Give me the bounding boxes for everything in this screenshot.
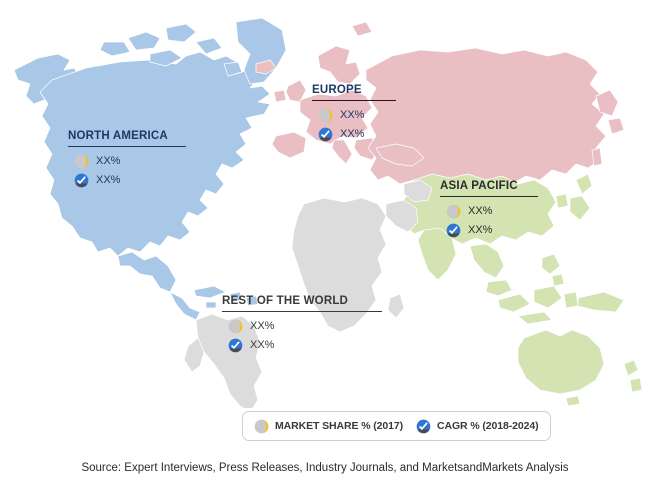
metric-row-market-share: XX% — [318, 106, 396, 125]
pie-chart-icon — [446, 204, 461, 219]
globe-growth-icon — [228, 338, 243, 353]
legend-item-cagr[interactable]: CAGR % (2018-2024) — [416, 419, 539, 434]
region-rule-europe — [312, 100, 396, 101]
legend-item-market-share[interactable]: MARKET SHARE % (2017) — [254, 419, 403, 434]
callout-europe[interactable]: EUROPE XX% XX% — [312, 84, 396, 144]
metric-row-cagr: XX% — [228, 336, 382, 355]
metric-value-cagr: XX% — [250, 339, 274, 352]
callout-rest-of-world[interactable]: REST OF THE WORLD XX% XX% — [222, 295, 382, 355]
globe-growth-icon — [416, 419, 431, 434]
metric-value-cagr: XX% — [96, 174, 120, 187]
metric-row-cagr: XX% — [446, 221, 538, 240]
metric-value-cagr: XX% — [468, 224, 492, 237]
legend-label-cagr: CAGR % (2018-2024) — [437, 420, 539, 432]
pie-chart-icon — [228, 319, 243, 334]
globe-growth-icon — [446, 223, 461, 238]
metric-value-cagr: XX% — [340, 128, 364, 141]
metric-value-market-share: XX% — [96, 155, 120, 168]
region-rule-north-america — [68, 146, 186, 147]
region-rule-asia-pacific — [440, 196, 538, 197]
metric-value-market-share: XX% — [468, 205, 492, 218]
region-title-north-america: NORTH AMERICA — [68, 130, 186, 146]
region-rule-rest-of-world — [222, 311, 382, 312]
metric-row-market-share: XX% — [446, 202, 538, 221]
regional-market-map-figure: NORTH AMERICA XX% XX% EUROPE — [0, 0, 650, 491]
region-title-rest-of-world: REST OF THE WORLD — [222, 295, 382, 311]
metric-value-market-share: XX% — [340, 109, 364, 122]
region-title-europe: EUROPE — [312, 84, 396, 100]
globe-growth-icon — [74, 173, 89, 188]
globe-growth-icon — [318, 127, 333, 142]
pie-chart-icon — [74, 154, 89, 169]
metric-value-market-share: XX% — [250, 320, 274, 333]
metric-row-cagr: XX% — [318, 125, 396, 144]
callout-asia-pacific[interactable]: ASIA PACIFIC XX% XX% — [440, 180, 538, 240]
pie-chart-icon — [318, 108, 333, 123]
callout-north-america[interactable]: NORTH AMERICA XX% XX% — [68, 130, 186, 190]
region-title-asia-pacific: ASIA PACIFIC — [440, 180, 538, 196]
legend: MARKET SHARE % (2017) CAGR % (2018-2024) — [242, 411, 551, 441]
metric-row-market-share: XX% — [228, 317, 382, 336]
pie-chart-icon — [254, 419, 269, 434]
source-note: Source: Expert Interviews, Press Release… — [0, 462, 650, 474]
metric-row-market-share: XX% — [74, 152, 186, 171]
metric-row-cagr: XX% — [74, 171, 186, 190]
legend-label-market-share: MARKET SHARE % (2017) — [275, 420, 403, 432]
